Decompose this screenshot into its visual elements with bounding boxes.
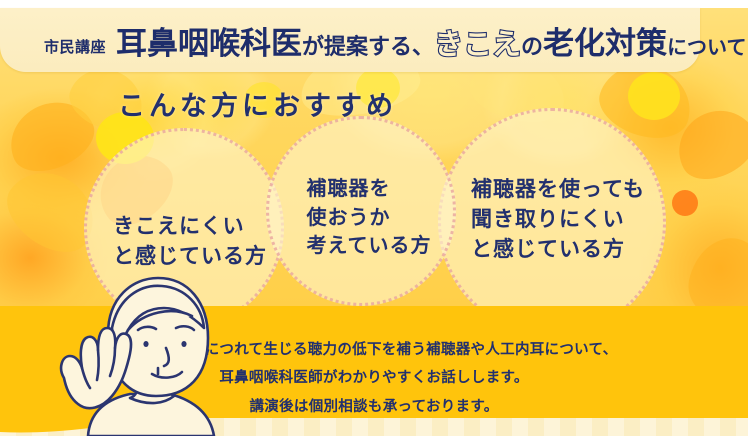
circle-considering-hearing-aid: 補聴器を 使おうか 考えている方 xyxy=(266,116,456,306)
circle-hearing-aid-not-enough: 補聴器を使っても 聞き取りにくい と感じている方 xyxy=(438,108,666,336)
title-part-no: の xyxy=(521,29,543,61)
lecture-badge: 市民講座 xyxy=(44,36,106,57)
circle-3-text: 補聴器を使っても 聞き取りにくい と感じている方 xyxy=(471,175,645,264)
seminar-poster: 補聴器を使っても 聞き取りにくい と感じている方 きこえにくい と感じている方 … xyxy=(0,0,748,436)
title-band: 市民講座 耳鼻咽喉科医 が提案する、 きこえ の 老化対策 について xyxy=(0,8,700,72)
title-part-proposes: が提案する、 xyxy=(302,29,434,61)
circle-2-text: 補聴器を 使おうか 考えている方 xyxy=(307,174,432,259)
title-part-aging-measures: 老化対策 xyxy=(543,18,667,63)
title-part-specialist: 耳鼻咽喉科医 xyxy=(116,18,302,63)
subheading: こんな方におすすめ xyxy=(118,84,397,123)
circle-1-text: きこえにくい と感じている方 xyxy=(113,212,267,272)
title-part-hearing: きこえ xyxy=(434,21,521,63)
title-part-about: について xyxy=(667,31,746,60)
person-cupping-ear-illustration xyxy=(52,272,242,436)
